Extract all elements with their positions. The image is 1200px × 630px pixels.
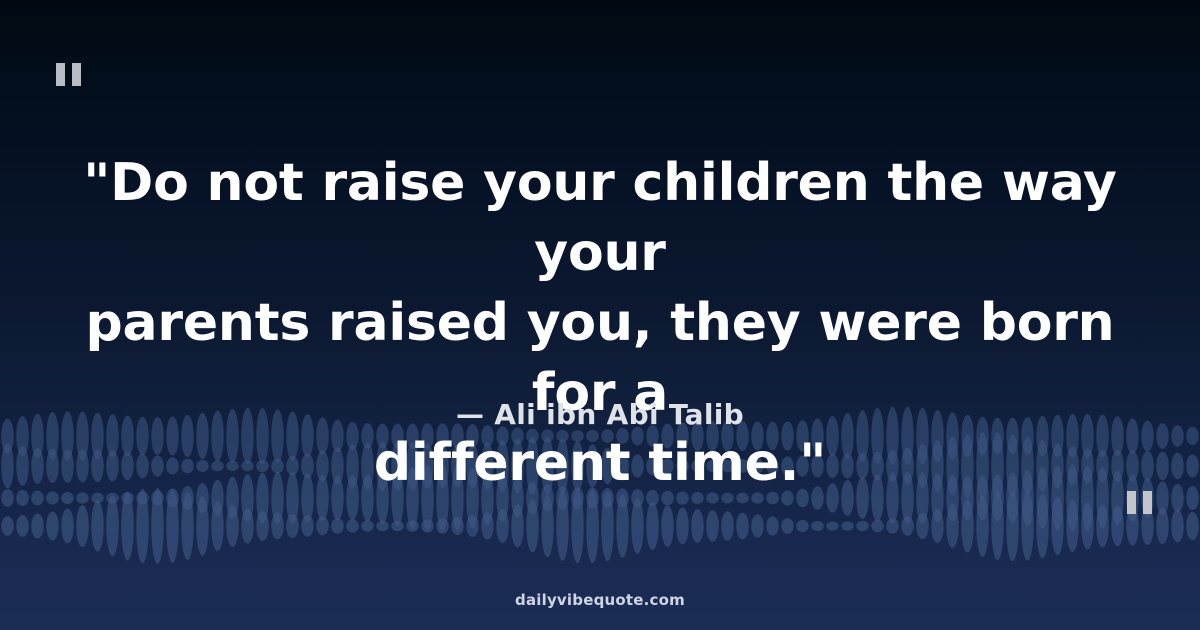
site-watermark: dailyvibequote.com bbox=[0, 591, 1200, 609]
quote-mark-bar bbox=[72, 63, 81, 86]
quote-mark-bar bbox=[1127, 491, 1136, 514]
quote-text: "Do not raise your children the way your… bbox=[46, 148, 1154, 498]
quote-attribution: — Ali ibn Abi Talib bbox=[0, 398, 1200, 431]
quote-card: "Do not raise your children the way your… bbox=[0, 0, 1200, 630]
quote-mark-icon bbox=[56, 63, 81, 86]
quote-mark-icon bbox=[1127, 491, 1152, 514]
quote-block: "Do not raise your children the way your… bbox=[0, 148, 1200, 498]
quote-mark-bar bbox=[56, 63, 65, 86]
quote-mark-bar bbox=[1143, 491, 1152, 514]
